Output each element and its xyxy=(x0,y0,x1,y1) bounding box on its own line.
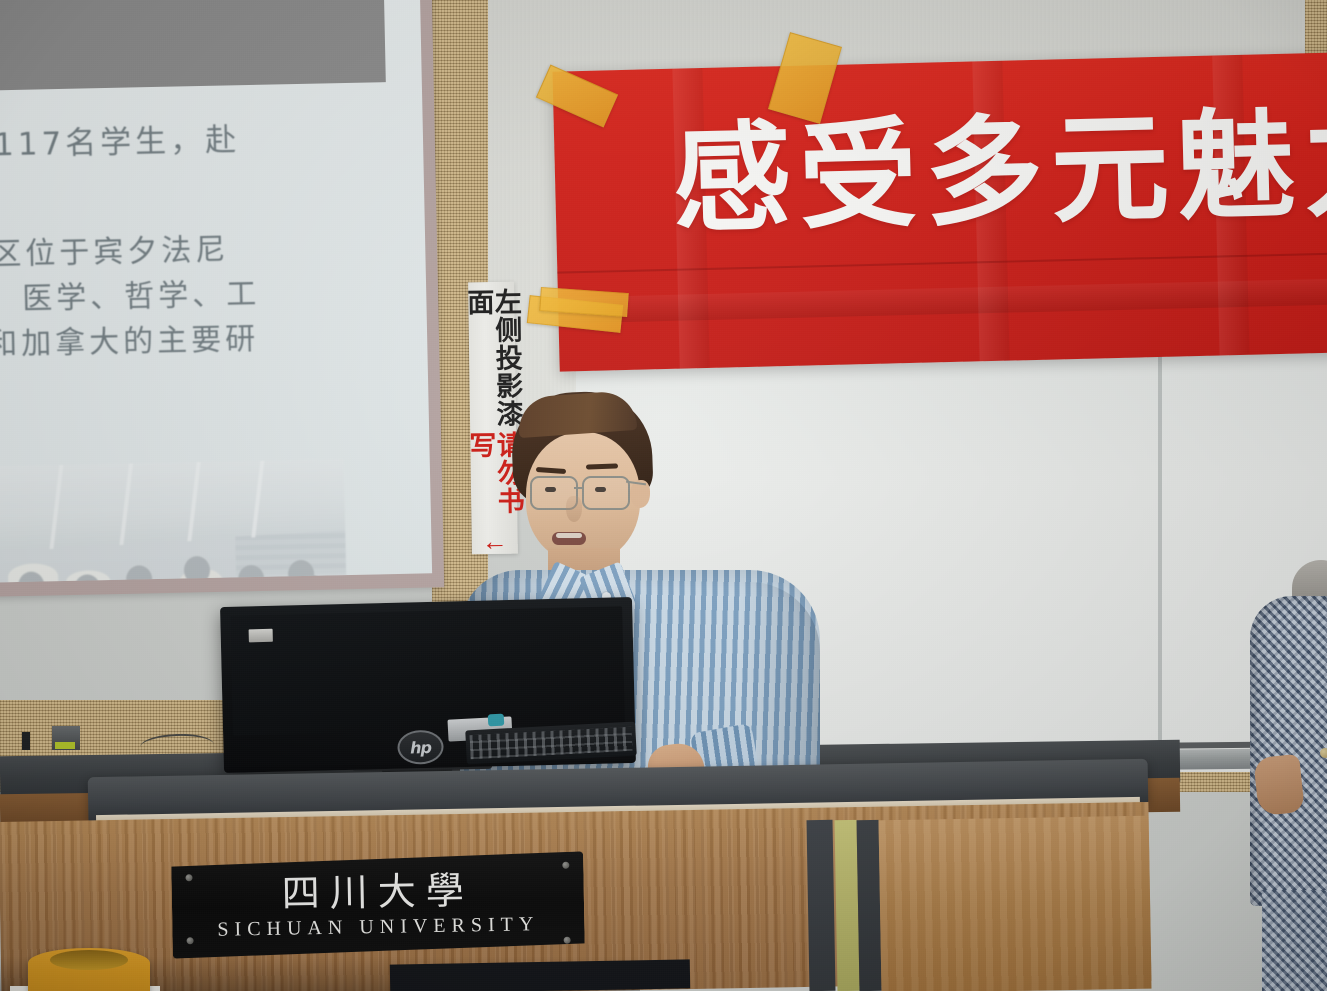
banner-bottom-hem xyxy=(558,278,1327,323)
hp-logo-icon: hp xyxy=(397,730,444,765)
slide-photo-crowd xyxy=(0,539,348,583)
podium-corner-post-left xyxy=(807,820,836,991)
desk-teal-marker xyxy=(488,714,505,727)
right-side-person xyxy=(1236,560,1327,991)
podium-accent-strip xyxy=(835,820,860,991)
desk-front-dark-strip xyxy=(390,959,690,991)
podium-corner-post-right xyxy=(857,820,882,991)
right-person-skirt xyxy=(1262,890,1327,991)
slide-text-line-1: 的117名学生，赴 xyxy=(0,114,241,165)
plaque-chinese-name: 四川大學 xyxy=(281,871,474,912)
whiteboard-seam xyxy=(1158,352,1162,752)
monitor-sticker xyxy=(249,629,273,643)
plaque-screw-bottom-right xyxy=(564,937,571,944)
presenter-hair-sweep xyxy=(517,390,638,438)
banner-fold-horizontal xyxy=(557,252,1327,273)
presenter-teeth xyxy=(556,533,582,538)
jacket-button-1 xyxy=(1320,748,1327,758)
desk-connector-nub xyxy=(22,732,30,750)
glasses-lens-right xyxy=(582,476,630,510)
packing-tape-roll xyxy=(28,948,150,991)
plaque-english-name: SICHUAN UNIVERSITY xyxy=(217,914,539,940)
projection-screen-surface: 的117名学生，赴 校区位于宾夕法尼 中，医学、哲学、工 国和加拿大的主要研 xyxy=(0,0,432,583)
slide-text-line-3: 中，医学、哲学、工 xyxy=(0,269,261,319)
monitor-screen xyxy=(230,606,625,736)
slide-header-band xyxy=(0,0,386,91)
plaque-screw-top-right xyxy=(562,862,569,869)
right-person-tweed-jacket xyxy=(1250,596,1327,906)
presenter-nose xyxy=(566,496,582,522)
plaque-screw-bottom-left xyxy=(187,937,194,944)
hp-logo-text: hp xyxy=(410,737,431,757)
keyboard-keys xyxy=(469,727,632,759)
right-person-hand xyxy=(1253,754,1305,816)
slide-text-line-4: 国和加拿大的主要研 xyxy=(0,314,260,364)
podium-right-panel xyxy=(879,816,1152,991)
slide-photo-group xyxy=(0,459,348,583)
desk-equipment-led xyxy=(55,742,75,749)
glasses-bridge xyxy=(574,487,584,489)
photo-scene: 感受多元魅力， 的117名学生，赴 校区位于宾夕法尼 中，医学、哲学、工 国和加… xyxy=(0,0,1327,991)
banner-slogan-text: 感受多元魅力， xyxy=(672,99,1327,239)
red-banner: 感受多元魅力， xyxy=(552,52,1327,371)
plaque-screw-top-left xyxy=(185,874,192,881)
sichuan-university-plaque: 四川大學 SICHUAN UNIVERSITY xyxy=(171,851,585,958)
slide-text-line-2: 校区位于宾夕法尼 xyxy=(0,224,230,274)
tape-roll-core xyxy=(50,950,128,970)
wall-mesh-panel-top-right xyxy=(1305,0,1327,60)
